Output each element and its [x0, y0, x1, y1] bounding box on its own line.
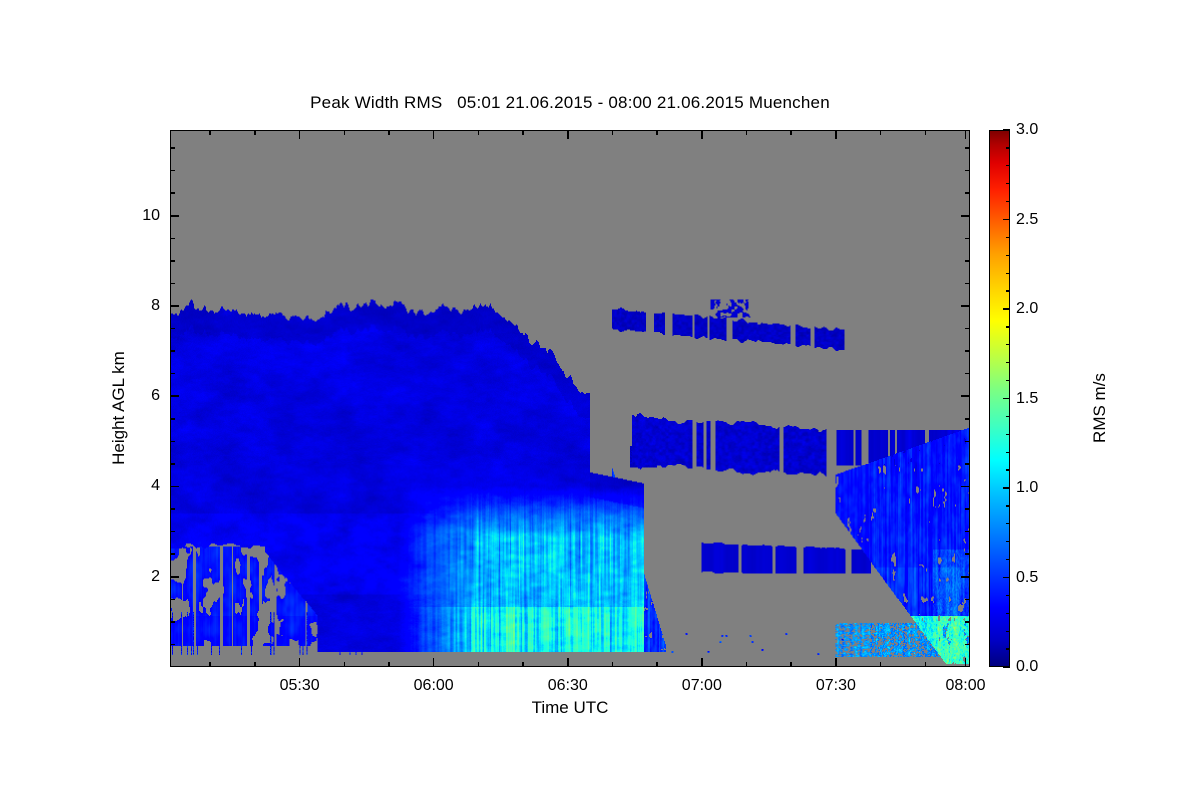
x-tick-label: 05:30 — [280, 677, 320, 695]
y-tick-minor — [170, 599, 175, 601]
y-tick-minor — [170, 170, 175, 172]
x-tick-minor — [746, 662, 748, 667]
colorbar-tick-minor — [1006, 613, 1010, 614]
colorbar-tick-minor — [1006, 523, 1010, 524]
colorbar-tick-minor — [1006, 290, 1010, 291]
colorbar-tick-label: 2.5 — [1016, 211, 1038, 229]
x-tick-major-top — [299, 130, 301, 139]
x-tick-minor-top — [344, 130, 346, 135]
y-tick-minor-right — [965, 260, 970, 262]
y-tick-minor-right — [965, 192, 970, 194]
y-tick-minor-right — [965, 621, 970, 623]
y-tick-minor — [170, 463, 175, 465]
x-tick-minor — [522, 662, 524, 667]
y-tick-minor — [170, 283, 175, 285]
y-tick-minor — [170, 260, 175, 262]
y-tick-major — [170, 215, 179, 217]
colorbar-tick-major — [1003, 398, 1010, 399]
y-tick-major — [170, 576, 179, 578]
x-tick-major-top — [835, 130, 837, 139]
x-tick-major-top — [965, 130, 967, 139]
x-tick-minor-top — [254, 130, 256, 135]
y-tick-minor — [170, 418, 175, 420]
x-tick-minor — [388, 662, 390, 667]
x-tick-minor-top — [209, 130, 211, 135]
y-tick-minor — [170, 192, 175, 194]
x-tick-minor — [344, 662, 346, 667]
x-tick-minor — [790, 662, 792, 667]
colorbar-tick-minor — [1006, 541, 1010, 542]
colorbar-tick-minor — [1006, 273, 1010, 274]
colorbar-tick-minor — [1006, 147, 1010, 148]
x-tick-minor-top — [478, 130, 480, 135]
x-tick-major — [965, 658, 967, 667]
x-tick-major-top — [701, 130, 703, 139]
colorbar-tick-label: 2.0 — [1016, 300, 1038, 318]
colorbar-tick-minor — [1006, 380, 1010, 381]
colorbar-tick-label: 1.0 — [1016, 479, 1038, 497]
colorbar-tick-major — [1003, 129, 1010, 130]
y-tick-minor — [170, 238, 175, 240]
y-tick-minor — [170, 621, 175, 623]
colorbar-tick-minor — [1006, 505, 1010, 506]
heatmap-image — [171, 131, 969, 666]
colorbar-tick-minor — [1006, 595, 1010, 596]
y-tick-major — [170, 486, 179, 488]
y-tick-minor — [170, 373, 175, 375]
x-tick-label: 07:00 — [682, 677, 722, 695]
y-tick-minor-right — [965, 350, 970, 352]
y-tick-minor-right — [965, 147, 970, 149]
y-tick-minor-right — [965, 553, 970, 555]
y-tick-minor-right — [965, 283, 970, 285]
y-tick-minor-right — [965, 531, 970, 533]
x-tick-label: 08:00 — [945, 677, 985, 695]
colorbar-tick-label: 3.0 — [1016, 121, 1038, 139]
x-tick-minor-top — [746, 130, 748, 135]
x-tick-major — [299, 658, 301, 667]
figure-canvas: Peak Width RMS 05:01 21.06.2015 - 08:00 … — [0, 0, 1200, 800]
y-tick-minor — [170, 350, 175, 352]
x-tick-minor — [254, 662, 256, 667]
colorbar-tick-minor — [1006, 452, 1010, 453]
colorbar-tick-minor — [1006, 344, 1010, 345]
x-tick-minor — [478, 662, 480, 667]
x-tick-major — [567, 658, 569, 667]
y-tick-minor-right — [965, 441, 970, 443]
y-tick-minor-right — [965, 170, 970, 172]
y-tick-minor — [170, 644, 175, 646]
colorbar-tick-minor — [1006, 469, 1010, 470]
colorbar-tick-minor — [1006, 362, 1010, 363]
y-tick-minor — [170, 508, 175, 510]
x-tick-minor-top — [880, 130, 882, 135]
y-tick-minor — [170, 553, 175, 555]
colorbar-tick-minor — [1006, 183, 1010, 184]
colorbar-tick-minor — [1006, 648, 1010, 649]
y-tick-minor-right — [965, 328, 970, 330]
colorbar-tick-minor — [1006, 559, 1010, 560]
x-tick-minor — [656, 662, 658, 667]
y-tick-minor-right — [965, 644, 970, 646]
plot-area[interactable] — [170, 130, 970, 667]
colorbar-tick-label: 0.0 — [1016, 658, 1038, 676]
colorbar-tick-minor — [1006, 416, 1010, 417]
y-axis-label: Height AGL km — [109, 288, 129, 528]
y-tick-minor-right — [965, 238, 970, 240]
y-tick-minor-right — [965, 373, 970, 375]
y-tick-major-right — [961, 486, 970, 488]
colorbar-tick-minor — [1006, 165, 1010, 166]
colorbar-tick-major — [1003, 666, 1010, 667]
x-tick-major — [433, 658, 435, 667]
x-tick-minor-top — [522, 130, 524, 135]
x-tick-minor — [925, 662, 927, 667]
page-title: Peak Width RMS 05:01 21.06.2015 - 08:00 … — [170, 93, 970, 113]
y-tick-minor — [170, 147, 175, 149]
colorbar-tick-minor — [1006, 434, 1010, 435]
y-tick-minor — [170, 441, 175, 443]
colorbar-tick-minor — [1006, 631, 1010, 632]
x-tick-minor — [612, 662, 614, 667]
x-tick-minor — [880, 662, 882, 667]
y-tick-major — [170, 395, 179, 397]
x-tick-minor — [209, 662, 211, 667]
x-tick-label: 06:00 — [414, 677, 454, 695]
y-tick-minor-right — [965, 508, 970, 510]
colorbar-tick-major — [1003, 487, 1010, 488]
y-tick-minor-right — [965, 463, 970, 465]
colorbar-tick-label: 0.5 — [1016, 569, 1038, 587]
y-tick-minor-right — [965, 599, 970, 601]
y-tick-minor — [170, 531, 175, 533]
x-tick-label: 07:30 — [816, 677, 856, 695]
y-tick-major-right — [961, 576, 970, 578]
y-tick-major-right — [961, 395, 970, 397]
y-tick-label: 10 — [112, 207, 160, 225]
colorbar-tick-minor — [1006, 326, 1010, 327]
y-tick-minor-right — [965, 418, 970, 420]
x-tick-minor-top — [388, 130, 390, 135]
y-tick-major-right — [961, 215, 970, 217]
x-tick-major-top — [567, 130, 569, 139]
colorbar-tick-minor — [1006, 237, 1010, 238]
y-tick-minor — [170, 328, 175, 330]
x-tick-major — [835, 658, 837, 667]
x-tick-label: 06:30 — [548, 677, 588, 695]
colorbar-tick-major — [1003, 219, 1010, 220]
colorbar-tick-label: 1.5 — [1016, 390, 1038, 408]
x-tick-minor-top — [925, 130, 927, 135]
x-tick-minor-top — [612, 130, 614, 135]
colorbar-tick-major — [1003, 577, 1010, 578]
x-tick-major-top — [433, 130, 435, 139]
y-tick-major-right — [961, 305, 970, 307]
x-axis-label: Time UTC — [170, 698, 970, 718]
colorbar-label: RMS m/s — [1090, 308, 1110, 508]
x-tick-major — [701, 658, 703, 667]
colorbar-tick-minor — [1006, 201, 1010, 202]
x-tick-minor-top — [656, 130, 658, 135]
x-tick-minor-top — [790, 130, 792, 135]
y-tick-major — [170, 305, 179, 307]
colorbar-tick-major — [1003, 308, 1010, 309]
colorbar-tick-minor — [1006, 255, 1010, 256]
y-tick-label: 2 — [112, 568, 160, 586]
